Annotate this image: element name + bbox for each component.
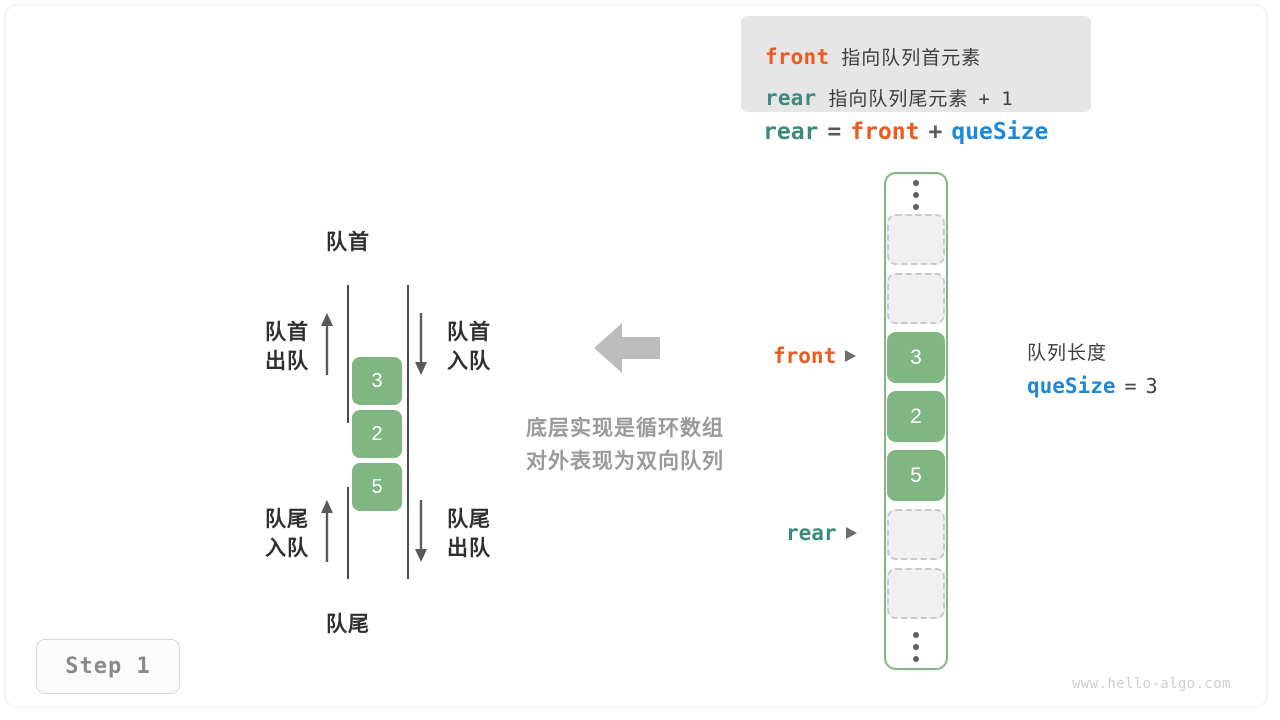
deque-tail-label: 队尾 <box>326 610 370 639</box>
deque-rail-right <box>407 285 409 579</box>
quesize-note-equals: = <box>1125 374 1137 398</box>
quesize-note-value: 3 <box>1146 374 1158 398</box>
center-caption: 底层实现是循环数组 对外表现为双向队列 <box>500 412 750 478</box>
array-ellipsis-bottom-icon <box>908 632 924 662</box>
array-cell: 3 <box>887 332 945 383</box>
formula-front: front <box>850 119 919 145</box>
arrow-down-head-enqueue-icon <box>414 313 428 375</box>
center-caption-line-2: 对外表现为双向队列 <box>500 445 750 478</box>
array-cell <box>887 273 945 324</box>
quesize-note-title: 队列长度 <box>1027 338 1158 365</box>
array-cell <box>887 214 945 265</box>
deque-label-head-enqueue: 队首入队 <box>447 318 491 376</box>
formula-rear: rear <box>763 119 818 145</box>
deque-label-tail-enqueue: 队尾入队 <box>249 505 309 563</box>
quesize-note: 队列长度 queSize = 3 <box>1027 338 1158 398</box>
deque-item: 2 <box>352 410 402 458</box>
deque-label-head-dequeue: 队首出队 <box>249 318 309 376</box>
array-cell <box>887 568 945 619</box>
left-pointing-arrow-icon <box>594 320 660 376</box>
deque-item: 5 <box>352 463 402 511</box>
legend-box: front 指向队列首元素 rear 指向队列尾元素 + 1 <box>741 16 1091 112</box>
diagram-canvas: front 指向队列首元素 rear 指向队列尾元素 + 1 rear = fr… <box>0 0 1280 720</box>
pointer-rear-label: rear <box>786 521 837 545</box>
arrow-up-tail-enqueue-icon <box>320 500 334 562</box>
quesize-note-name: queSize <box>1027 374 1116 398</box>
formula-plus: + <box>929 119 943 145</box>
deque-head-label: 队首 <box>326 228 370 257</box>
array-cell: 2 <box>887 391 945 442</box>
array-cell <box>887 509 945 560</box>
arrow-down-tail-dequeue-icon <box>414 500 428 562</box>
legend-front-keyword: front <box>765 45 829 69</box>
legend-rear-keyword: rear <box>765 86 816 110</box>
formula-quesize: queSize <box>951 119 1048 145</box>
legend-rear-offset: + 1 <box>978 88 1012 110</box>
legend-row-front: front 指向队列首元素 <box>765 43 981 70</box>
step-badge-label: Step 1 <box>65 654 150 679</box>
pointer-rear-arrow-icon <box>846 527 857 539</box>
pointer-front: front <box>773 344 856 368</box>
legend-front-description: 指向队列首元素 <box>841 43 981 70</box>
formula-equals: = <box>827 119 841 145</box>
legend-row-rear: rear 指向队列尾元素 + 1 <box>765 84 1013 111</box>
deque-rail-left-upper <box>347 285 349 423</box>
pointer-rear: rear <box>786 521 857 545</box>
arrow-up-head-dequeue-icon <box>320 313 334 375</box>
pointer-front-arrow-icon <box>845 350 856 362</box>
watermark: www.hello-algo.com <box>1072 676 1231 692</box>
deque-rail-left-lower <box>347 487 349 579</box>
formula-rear-equals-front-plus-quesize: rear = front + queSize <box>763 119 1048 145</box>
legend-rear-description: 指向队列尾元素 <box>828 84 968 111</box>
deque-label-tail-dequeue: 队尾出队 <box>447 505 491 563</box>
array-cell: 5 <box>887 450 945 501</box>
center-caption-line-1: 底层实现是循环数组 <box>500 412 750 445</box>
step-badge: Step 1 <box>36 639 180 694</box>
deque-item: 3 <box>352 357 402 405</box>
pointer-front-label: front <box>773 344 836 368</box>
array-ellipsis-top-icon <box>908 180 924 210</box>
